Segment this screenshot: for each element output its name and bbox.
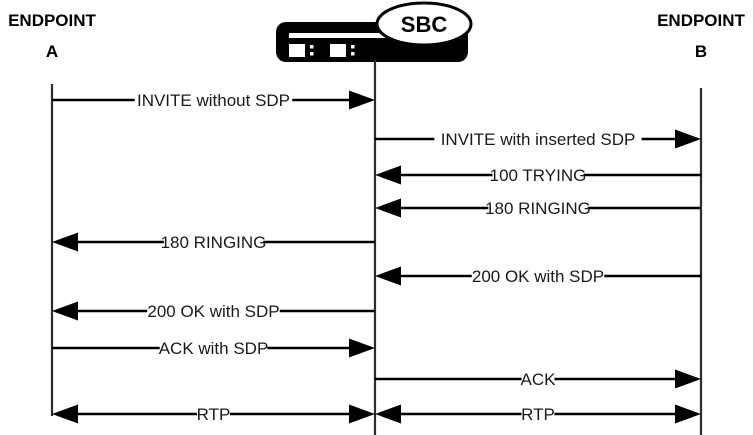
message-label-200-ok-with-sdp-a: 200 OK with SDP	[147, 302, 279, 321]
message-label-invite-with-inserted-sdp: INVITE with inserted SDP	[441, 130, 636, 149]
endpoint-a-header: ENDPOINT A	[8, 11, 96, 61]
message-label-180-ringing-b: 180 RINGING	[485, 199, 591, 218]
endpoint-b-subtitle: B	[695, 42, 707, 61]
message-label-180-ringing-a: 180 RINGING	[161, 233, 267, 252]
sbc-badge: SBC	[377, 3, 471, 45]
message-200-ok-with-sdp-b: 200 OK with SDP	[375, 267, 701, 287]
message-label-200-ok-with-sdp-b: 200 OK with SDP	[472, 267, 604, 286]
message-label-rtp-left: RTP	[197, 405, 231, 424]
messages-layer: INVITE without SDPINVITE with inserted S…	[52, 91, 701, 425]
message-label-invite-without-sdp: INVITE without SDP	[137, 91, 290, 110]
message-label-rtp-right: RTP	[521, 405, 555, 424]
message-invite-without-sdp: INVITE without SDP	[52, 91, 375, 111]
message-200-ok-with-sdp-a: 200 OK with SDP	[52, 302, 375, 322]
message-180-ringing-b: 180 RINGING	[375, 199, 701, 219]
flow-canvas: ENDPOINT A ENDPOINT B SBC	[0, 0, 753, 435]
message-180-ringing-a: 180 RINGING	[52, 233, 375, 253]
message-rtp-right: RTP	[375, 405, 701, 425]
endpoint-b-title: ENDPOINT	[657, 11, 745, 30]
message-label-ack-with-sdp: ACK with SDP	[159, 339, 269, 358]
message-label-100-trying: 100 TRYING	[490, 166, 587, 185]
message-ack: ACK	[375, 370, 701, 390]
endpoint-a-title: ENDPOINT	[8, 11, 96, 30]
sbc-badge-label: SBC	[401, 12, 448, 37]
endpoint-b-header: ENDPOINT B	[657, 11, 745, 61]
endpoint-a-subtitle: A	[46, 42, 58, 61]
message-100-trying: 100 TRYING	[375, 166, 701, 186]
message-rtp-left: RTP	[52, 405, 375, 425]
message-label-ack: ACK	[521, 370, 557, 389]
sip-call-flow-diagram: ENDPOINT A ENDPOINT B SBC	[0, 0, 753, 435]
message-invite-with-inserted-sdp: INVITE with inserted SDP	[375, 130, 701, 150]
message-ack-with-sdp: ACK with SDP	[52, 339, 375, 359]
